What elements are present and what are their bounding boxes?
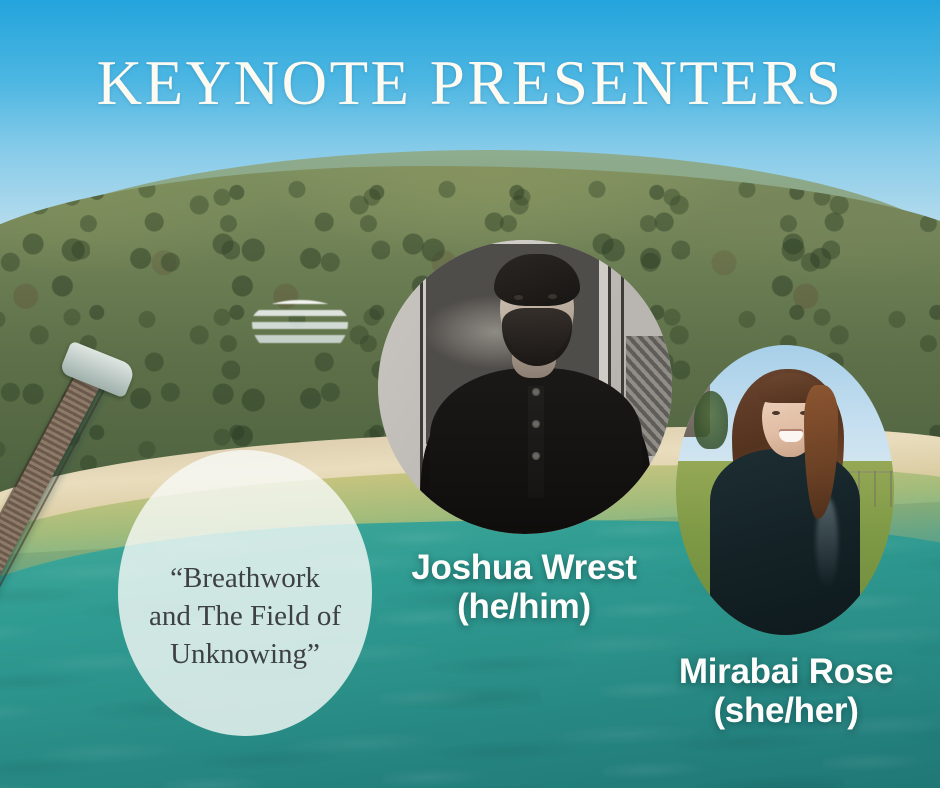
page-title: KEYNOTE PRESENTERS	[0, 52, 940, 115]
presenter-photo-mirabai-rose	[676, 345, 894, 635]
presenter-name-mirabai-rose: Mirabai Rose (she/her)	[610, 652, 940, 730]
presenter-name-joshua-wrest: Joshua Wrest (he/him)	[352, 548, 696, 626]
presenter-pronouns: (she/her)	[610, 691, 940, 730]
session-title-line-2: and The Field of	[149, 600, 341, 632]
grayscale-overlay	[378, 240, 672, 534]
session-title-line-3: Unknowing”	[170, 638, 320, 670]
presenter-name-text: Joshua Wrest	[411, 548, 636, 587]
photo-tree	[694, 391, 728, 449]
smile	[779, 431, 803, 442]
session-title-line-1: “Breathwork	[170, 562, 320, 594]
eye-left	[772, 411, 780, 415]
presenter-pronouns: (he/him)	[352, 587, 696, 626]
resort-building	[252, 300, 348, 358]
session-title-text: “Breathwork and The Field of Unknowing”	[118, 559, 372, 674]
presenter-name-text: Mirabai Rose	[679, 652, 893, 691]
keynote-presenters-poster: KEYNOTE PRESENTERS “Breathwork and The F…	[0, 0, 940, 788]
session-title-circle: “Breathwork and The Field of Unknowing”	[118, 450, 372, 736]
presenter-photo-joshua-wrest	[378, 240, 672, 534]
